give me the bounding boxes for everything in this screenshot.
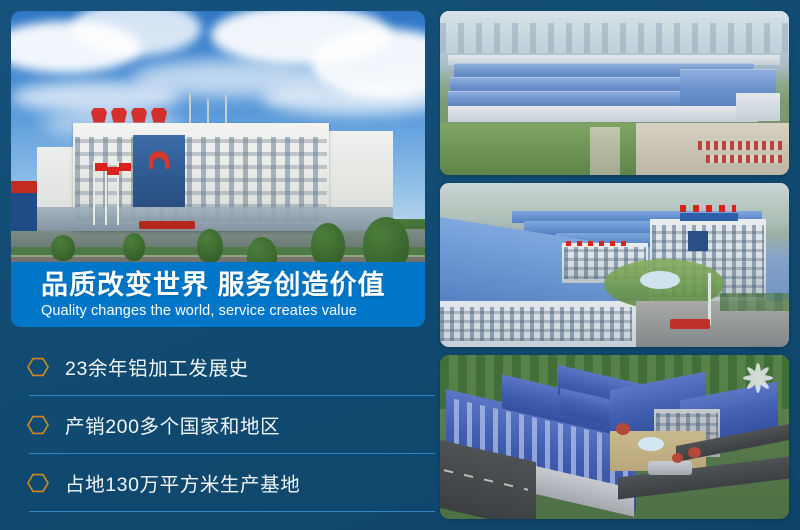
slogan-english: Quality changes the world, service creat…	[41, 301, 425, 321]
hexagon-icon	[27, 356, 49, 378]
flag	[119, 163, 131, 171]
roof-antenna	[207, 99, 209, 123]
roof-antenna	[189, 93, 191, 123]
company-headquarters-photo: 品质改变世界 服务创造价值 Quality changes the world,…	[11, 11, 425, 327]
flag	[107, 167, 119, 175]
building-base-band	[37, 207, 393, 231]
window-grid	[440, 307, 632, 341]
entrance-canopy	[139, 221, 195, 229]
slogan-banner: 品质改变世界 服务创造价值 Quality changes the world,…	[11, 262, 425, 327]
tree	[197, 229, 223, 263]
roof-sign-characters	[91, 107, 177, 123]
pinwheel-icon	[741, 361, 775, 395]
ornamental-shrub	[672, 453, 683, 463]
list-divider	[29, 511, 435, 513]
slogan-chinese: 品质改变世界 服务创造价值	[41, 269, 425, 301]
office-glass-panel	[688, 231, 708, 251]
tree	[51, 235, 75, 261]
fountain	[640, 271, 680, 289]
glass-atrium	[133, 135, 185, 207]
office-roof-sign	[680, 205, 736, 212]
side-building-sign	[11, 181, 37, 193]
industrial-park-rendering	[440, 355, 789, 519]
ornamental-shrub	[688, 447, 701, 458]
gate-structure	[670, 319, 710, 329]
tree-row	[720, 293, 789, 311]
factory-facade	[448, 106, 758, 122]
tree	[311, 223, 345, 267]
list-item-label: 产销200多个国家和地区	[65, 410, 280, 439]
factory-and-office-photo	[440, 183, 789, 347]
distant-skyline	[440, 23, 789, 53]
office-roof-band	[680, 213, 738, 221]
hexagon-icon	[27, 472, 49, 494]
flag	[95, 163, 107, 171]
access-road	[590, 127, 620, 175]
ornamental-shrub	[616, 423, 630, 435]
aerial-factory-wide-photo	[440, 11, 789, 175]
hexagon-icon	[27, 414, 49, 436]
roof-antenna	[225, 95, 227, 123]
parked-vehicles	[698, 141, 782, 150]
list-item[interactable]: 产销200多个国家和地区	[11, 396, 425, 454]
parked-vehicles	[706, 155, 782, 163]
block-roof-sign	[566, 241, 628, 246]
left-column: 品质改变世界 服务创造价值 Quality changes the world,…	[11, 11, 425, 519]
list-item-label: 23余年铝加工发展史	[65, 352, 249, 381]
tree	[123, 233, 145, 261]
list-item-label: 占地130万平方米生产基地	[65, 468, 300, 497]
fountain	[638, 437, 664, 451]
entrance-gatehouse	[648, 461, 692, 475]
company-logo-emblem	[149, 151, 169, 169]
list-item[interactable]: 占地130万平方米生产基地	[11, 454, 425, 512]
right-column	[440, 11, 789, 519]
page-root: 品质改变世界 服务创造价值 Quality changes the world,…	[0, 0, 800, 530]
feature-list: 23余年铝加工发展史 产销200多个国家和地区	[11, 338, 425, 512]
list-item[interactable]: 23余年铝加工发展史	[11, 338, 425, 396]
light-mast	[708, 273, 711, 325]
factory-facade	[736, 93, 780, 121]
